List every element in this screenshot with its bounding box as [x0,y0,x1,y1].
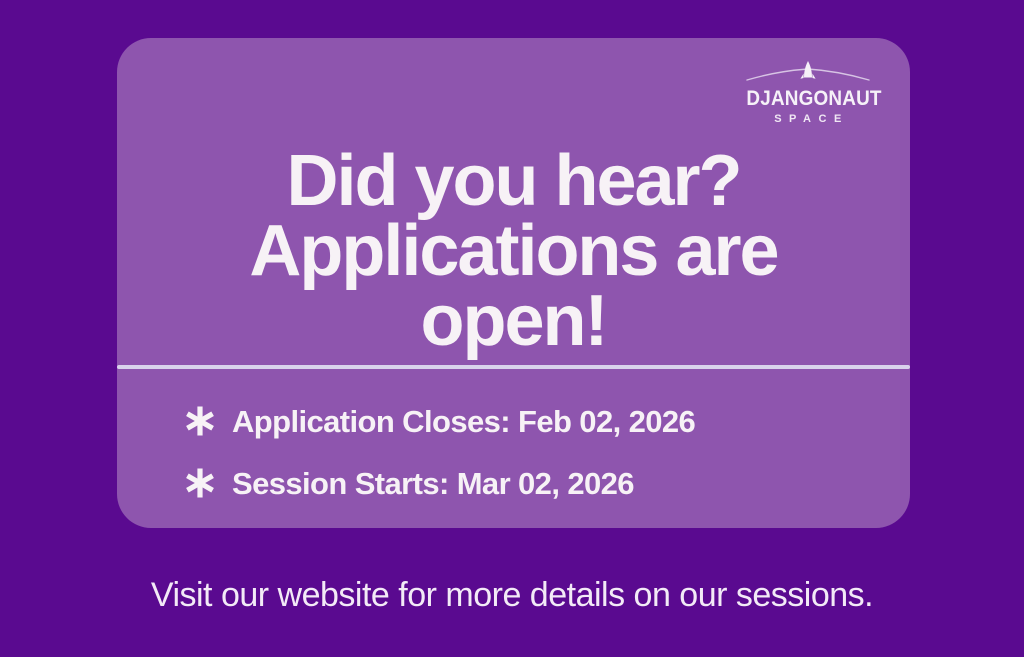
list-item-label: Application Closes: Feb 02, 2026 [232,406,695,437]
djangonaut-space-logo: DJANGONAUT SPACE [738,60,878,125]
divider [117,365,910,369]
list-item-label: Session Starts: Mar 02, 2026 [232,468,634,499]
list-item: Application Closes: Feb 02, 2026 [183,390,870,452]
asterisk-icon [183,404,217,438]
logo-wordmark: DJANGONAUT [746,88,869,110]
rocket-arc-icon [745,60,871,86]
logo-subtitle: SPACE [738,114,878,125]
list-item: Session Starts: Mar 02, 2026 [183,452,870,514]
asterisk-icon [183,466,217,500]
announcement-poster: DJANGONAUT SPACE Did you hear? Applicati… [0,0,1024,657]
footer-text: Visit our website for more details on ou… [0,578,1024,612]
announcement-card: DJANGONAUT SPACE Did you hear? Applicati… [117,38,910,528]
headline: Did you hear? Applications are open! [117,146,910,356]
details-list: Application Closes: Feb 02, 2026 Session… [183,390,870,514]
